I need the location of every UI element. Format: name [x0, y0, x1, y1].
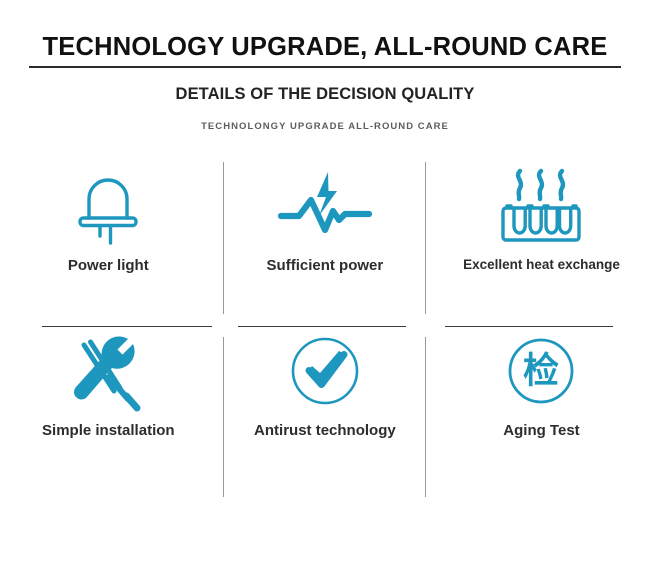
- wrench-screwdriver-icon: [62, 319, 154, 423]
- feature-cell-power-light[interactable]: Power light: [0, 154, 217, 319]
- feature-row-bottom: Simple installation Antirust technology …: [0, 319, 650, 484]
- feature-label: Simple installation: [42, 423, 175, 438]
- feature-label: Antirust technology: [254, 423, 396, 438]
- power-waveform-icon: [273, 154, 377, 258]
- divider-vertical: [425, 162, 426, 314]
- inspection-seal-icon: 检: [499, 319, 583, 423]
- page-tagline: TECHNOLONGY UPGRADE ALL-ROUND CARE: [0, 121, 650, 132]
- feature-row-top: Power light Sufficient power: [0, 154, 650, 319]
- divider-horizontal: [238, 326, 406, 327]
- page-header: TECHNOLOGY UPGRADE, ALL-ROUND CARE DETAI…: [0, 0, 650, 132]
- divider-horizontal: [42, 326, 212, 327]
- page-subtitle: DETAILS OF THE DECISION QUALITY: [0, 85, 650, 104]
- inspection-glyph: 检: [523, 350, 559, 391]
- check-circle-icon: [283, 319, 367, 423]
- feature-label: Aging Test: [503, 423, 579, 438]
- feature-cell-sufficient-power[interactable]: Sufficient power: [217, 154, 434, 319]
- feature-cell-heat-exchange[interactable]: Excellent heat exchange: [433, 154, 650, 319]
- feature-label: Excellent heat exchange: [463, 258, 620, 272]
- feature-cell-antirust[interactable]: Antirust technology: [217, 319, 434, 484]
- feature-cell-simple-installation[interactable]: Simple installation: [0, 319, 217, 484]
- radiator-heat-icon: [491, 154, 591, 258]
- led-bulb-icon: [66, 154, 150, 258]
- divider-vertical: [223, 162, 224, 314]
- page-title: TECHNOLOGY UPGRADE, ALL-ROUND CARE: [29, 34, 621, 61]
- feature-cell-aging-test[interactable]: 检 Aging Test: [433, 319, 650, 484]
- divider-horizontal: [445, 326, 613, 327]
- title-underline: [29, 66, 621, 68]
- feature-grid: Power light Sufficient power: [0, 154, 650, 484]
- feature-label: Power light: [68, 258, 149, 273]
- divider-vertical: [425, 337, 426, 497]
- feature-label: Sufficient power: [267, 258, 384, 273]
- divider-vertical: [223, 337, 224, 497]
